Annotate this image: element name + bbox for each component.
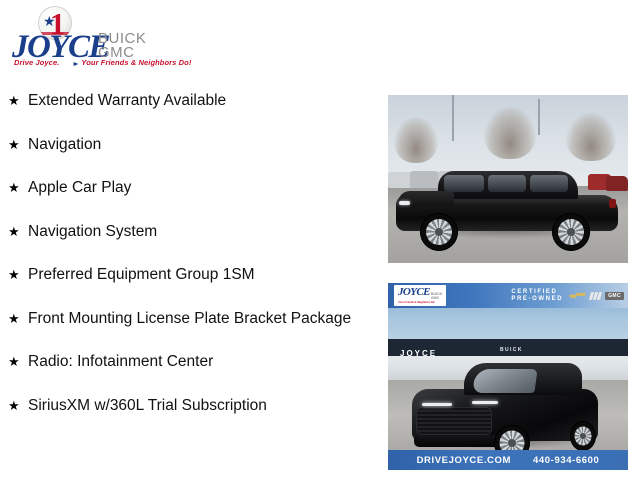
light-pole-icon [452, 95, 454, 141]
wheel-rear [570, 421, 596, 451]
vehicle-front-view [412, 363, 598, 458]
star-icon: ★ [8, 308, 28, 329]
star-icon: ★ [8, 90, 28, 111]
list-item: ★ Front Mounting License Plate Bracket P… [0, 308, 372, 329]
dealership-sign: JOYCE [400, 350, 437, 358]
star-icon: ★ [8, 177, 28, 198]
feature-label: Extended Warranty Available [28, 90, 366, 111]
chevrolet-logo-icon [569, 292, 586, 299]
vehicle-window [530, 175, 568, 192]
list-item: ★ SiriusXM w/360L Trial Subscription [0, 395, 372, 416]
vehicle-windshield [472, 369, 537, 393]
wheel-rear [552, 213, 590, 251]
vehicle-feature-list: ★ Extended Warranty Available ★ Navigati… [0, 90, 372, 438]
headlight-icon [399, 201, 410, 205]
dealer-tagline: Drive Joyce.Your Friends & Neighbors Do! [14, 58, 182, 67]
dealer-phone[interactable]: 440-934-6600 [533, 455, 599, 466]
list-item: ★ Preferred Equipment Group 1SM [0, 264, 372, 285]
star-icon: ★ [8, 221, 28, 242]
dealer-website[interactable]: DRIVEJOYCE.COM [417, 455, 511, 466]
list-item: ★ Navigation [0, 134, 372, 155]
tree-icon [566, 113, 616, 161]
arrow-icon [62, 62, 78, 66]
wheel-front [420, 213, 458, 251]
vehicle-grille [416, 407, 492, 435]
certified-pre-owned-banner: JOYCE BUICK GMC Your Friends & Neighbors… [388, 283, 628, 308]
cpo-badge: CERTIFIED PRE-OWNED GMC [511, 289, 624, 303]
tagline-right: Your Friends & Neighbors Do! [81, 58, 191, 67]
vehicle-side-profile [396, 169, 618, 247]
brand-marks: GMC [569, 292, 624, 300]
vehicle-window [444, 175, 484, 192]
dealer-tagline: Your Friends & Neighbors Do! [398, 302, 435, 305]
dealer-logo-small: JOYCE BUICK GMC Your Friends & Neighbors… [394, 285, 446, 305]
feature-label: Preferred Equipment Group 1SM [28, 264, 366, 285]
tree-icon [484, 107, 536, 159]
star-icon: ★ [8, 395, 28, 416]
headlight-icon [472, 401, 498, 404]
feature-label: SiriusXM w/360L Trial Subscription [28, 395, 366, 416]
star-icon: ★ [8, 134, 28, 155]
taillight-icon [609, 199, 616, 208]
vehicle-photo-side[interactable] [388, 95, 628, 263]
tagline-left: Drive Joyce. [14, 58, 59, 67]
feature-label: Apple Car Play [28, 177, 366, 198]
dealer-logo: ★ 1 JOYCE BUICK GMC Drive Joyce.Your Fri… [12, 4, 182, 76]
feature-label: Navigation System [28, 221, 366, 242]
cpo-label: CERTIFIED PRE-OWNED [511, 289, 563, 303]
gmc-logo-icon: GMC [605, 292, 624, 300]
tree-icon [394, 117, 438, 163]
list-item: ★ Radio: Infotainment Center [0, 351, 372, 372]
feature-label: Front Mounting License Plate Bracket Pac… [28, 308, 366, 329]
dealer-name: JOYCE [398, 287, 430, 298]
vehicle-photo-front[interactable]: JOYCE BUICK JOYCE BUICK GMC [388, 283, 628, 470]
showroom-buick-sign: BUICK [500, 347, 523, 353]
list-item: ★ Apple Car Play [0, 177, 372, 198]
dealer-contact-banner: DRIVEJOYCE.COM 440-934-6600 [388, 450, 628, 470]
dealer-brands: BUICK GMC [98, 32, 146, 60]
buick-logo-icon [590, 292, 601, 300]
star-icon: ★ [8, 351, 28, 372]
feature-label: Navigation [28, 134, 366, 155]
light-pole-icon [538, 99, 540, 135]
cpo-line-2: PRE-OWNED [511, 296, 563, 303]
vehicle-window [488, 175, 526, 192]
list-item: ★ Navigation System [0, 221, 372, 242]
dealer-brands: BUICK GMC [431, 293, 442, 301]
list-item: ★ Extended Warranty Available [0, 90, 372, 111]
feature-label: Radio: Infotainment Center [28, 351, 366, 372]
headlight-icon [422, 403, 452, 406]
cpo-line-1: CERTIFIED [511, 289, 563, 296]
star-icon: ★ [8, 264, 28, 285]
